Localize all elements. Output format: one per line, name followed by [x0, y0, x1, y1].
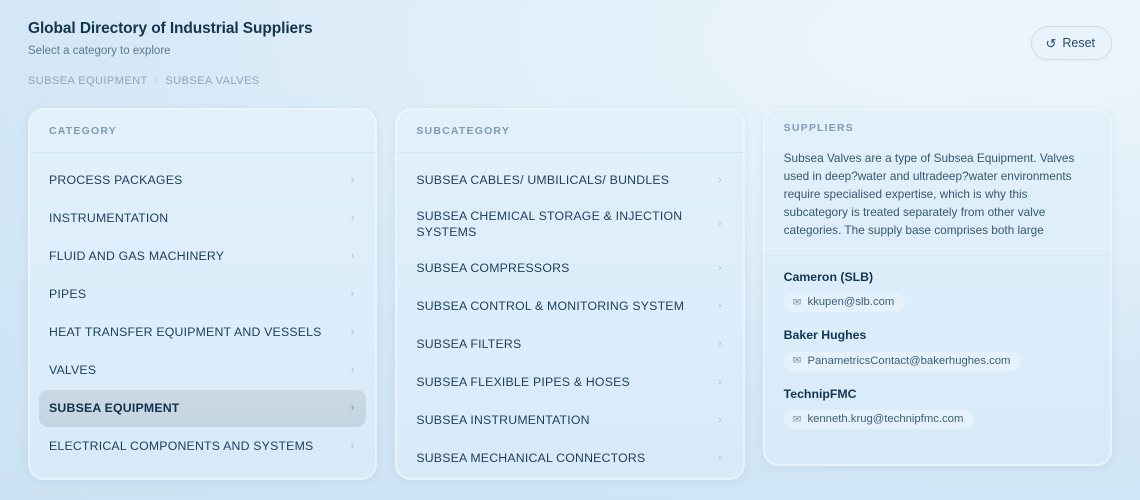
category-item-label: FLUID AND GAS MACHINERY: [49, 248, 341, 264]
mail-icon: ✉: [793, 298, 802, 309]
subcategory-panel: SUBCATEGORY SUBSEA CABLES/ UMBILICALS/ B…: [395, 108, 744, 480]
reset-button-label: Reset: [1062, 36, 1095, 50]
subcategory-panel-header: SUBCATEGORY: [396, 109, 743, 153]
subcategory-item-row[interactable]: SUBSEA FLEXIBLE PIPES & HOSES›: [406, 363, 733, 401]
chevron-right-icon: ›: [718, 415, 722, 426]
supplier-entry: Baker Hughes✉PanametricsContact@bakerhug…: [784, 328, 1091, 370]
subcategory-item-row[interactable]: SUBSEA CABLES/ UMBILICALS/ BUNDLES›: [406, 161, 733, 199]
chevron-right-icon: ›: [718, 175, 722, 186]
breadcrumb-item-subcategory[interactable]: SUBSEA VALVES: [165, 75, 259, 87]
supplier-email-text: kenneth.krug@technipfmc.com: [807, 413, 963, 425]
chevron-right-icon: ›: [351, 213, 355, 224]
supplier-entry: TechnipFMC✉kenneth.krug@technipfmc.com: [784, 387, 1091, 429]
category-item-row[interactable]: PIPES›: [39, 275, 366, 313]
chevron-right-icon: ›: [718, 453, 722, 464]
supplier-name: TechnipFMC: [784, 387, 1091, 401]
chevron-right-icon: ›: [351, 251, 355, 262]
category-panel-header: CATEGORY: [29, 109, 376, 153]
subcategory-item-label: SUBSEA CHEMICAL STORAGE & INJECTION SYST…: [416, 208, 708, 240]
supplier-name: Baker Hughes: [784, 328, 1091, 342]
chevron-right-icon: ›: [718, 263, 722, 274]
category-item-row[interactable]: FLUID AND GAS MACHINERY›: [39, 237, 366, 275]
subcategory-item-label: SUBSEA INSTRUMENTATION: [416, 412, 708, 428]
subcategory-description: Subsea Valves are a type of Subsea Equip…: [764, 147, 1111, 256]
category-item-row[interactable]: PROCESS PACKAGES›: [39, 161, 366, 199]
suppliers-panel-header: SUPPLIERS: [764, 109, 1111, 147]
category-item-label: ELECTRICAL COMPONENTS AND SYSTEMS: [49, 438, 341, 454]
category-list[interactable]: PROCESS PACKAGES›INSTRUMENTATION›FLUID A…: [29, 153, 376, 479]
subcategory-description-text: Subsea Valves are a type of Subsea Equip…: [784, 149, 1091, 241]
category-item-row[interactable]: VALVES›: [39, 351, 366, 389]
subcategory-item-row[interactable]: SUBSEA CHEMICAL STORAGE & INJECTION SYST…: [406, 199, 733, 249]
subcategory-item-row[interactable]: SUBSEA CONTROL & MONITORING SYSTEM›: [406, 287, 733, 325]
subcategory-item-label: SUBSEA MECHANICAL CONNECTORS: [416, 450, 708, 466]
breadcrumb: SUBSEA EQUIPMENT › SUBSEA VALVES: [28, 75, 1112, 87]
supplier-email-text: PanametricsContact@bakerhughes.com: [807, 355, 1010, 367]
category-item-label: PROCESS PACKAGES: [49, 172, 341, 188]
category-item-label: HEAT TRANSFER EQUIPMENT AND VESSELS: [49, 324, 341, 340]
mail-icon: ✉: [793, 414, 802, 425]
browser-columns: CATEGORY PROCESS PACKAGES›INSTRUMENTATIO…: [28, 108, 1112, 500]
category-item-row[interactable]: INSTRUMENTATION›: [39, 199, 366, 237]
category-item-row[interactable]: HEAT TRANSFER EQUIPMENT AND VESSELS›: [39, 313, 366, 351]
breadcrumb-item-category[interactable]: SUBSEA EQUIPMENT: [28, 75, 148, 87]
subcategory-list[interactable]: SUBSEA CABLES/ UMBILICALS/ BUNDLES›SUBSE…: [396, 153, 743, 479]
supplier-name: Cameron (SLB): [784, 270, 1091, 284]
chevron-right-icon: ›: [351, 175, 355, 186]
subcategory-item-row[interactable]: SUBSEA FILTERS›: [406, 325, 733, 363]
chevron-right-icon: ›: [351, 403, 355, 414]
page-title: Global Directory of Industrial Suppliers: [28, 20, 1112, 39]
chevron-right-icon: ›: [718, 219, 722, 230]
mail-icon: ✉: [793, 356, 802, 367]
category-item-label: SUBSEA EQUIPMENT: [49, 400, 341, 416]
reset-button[interactable]: ↺ Reset: [1031, 26, 1112, 60]
supplier-email-chip[interactable]: ✉PanametricsContact@bakerhughes.com: [784, 352, 1022, 371]
category-item-label: PIPES: [49, 286, 341, 302]
subcategory-item-label: SUBSEA CONTROL & MONITORING SYSTEM: [416, 298, 708, 314]
refresh-icon: ↺: [1045, 37, 1056, 50]
supplier-email-chip[interactable]: ✉kkupen@slb.com: [784, 293, 906, 312]
subcategory-item-row[interactable]: SUBSEA INSTRUMENTATION›: [406, 401, 733, 439]
supplier-email-text: kkupen@slb.com: [807, 296, 894, 308]
category-item-row[interactable]: SUBSEA EQUIPMENT›: [39, 389, 366, 427]
subcategory-item-label: SUBSEA FLEXIBLE PIPES & HOSES: [416, 374, 708, 390]
chevron-right-icon: ›: [351, 365, 355, 376]
category-panel: CATEGORY PROCESS PACKAGES›INSTRUMENTATIO…: [28, 108, 377, 480]
breadcrumb-separator-icon: ›: [155, 75, 159, 85]
category-item-label: VALVES: [49, 362, 341, 378]
subcategory-item-row[interactable]: SUBSEA MECHANICAL CONNECTORS›: [406, 439, 733, 477]
category-item-row[interactable]: ELECTRICAL COMPONENTS AND SYSTEMS›: [39, 427, 366, 465]
supplier-email-chip[interactable]: ✉kenneth.krug@technipfmc.com: [784, 410, 975, 429]
chevron-right-icon: ›: [351, 327, 355, 338]
chevron-right-icon: ›: [718, 339, 722, 350]
page-header: Global Directory of Industrial Suppliers…: [28, 20, 1112, 98]
suppliers-panel: SUPPLIERS Subsea Valves are a type of Su…: [763, 108, 1112, 466]
subcategory-item-row[interactable]: SUBSEA COMPRESSORS›: [406, 249, 733, 287]
chevron-right-icon: ›: [351, 441, 355, 452]
chevron-right-icon: ›: [351, 289, 355, 300]
subcategory-item-label: SUBSEA CABLES/ UMBILICALS/ BUNDLES: [416, 172, 708, 188]
subcategory-item-label: SUBSEA COMPRESSORS: [416, 260, 708, 276]
supplier-list: Cameron (SLB)✉kkupen@slb.comBaker Hughes…: [764, 256, 1111, 439]
page-subtitle: Select a category to explore: [28, 45, 1112, 57]
subcategory-item-label: SUBSEA FILTERS: [416, 336, 708, 352]
chevron-right-icon: ›: [718, 301, 722, 312]
category-item-label: INSTRUMENTATION: [49, 210, 341, 226]
chevron-right-icon: ›: [718, 377, 722, 388]
supplier-entry: Cameron (SLB)✉kkupen@slb.com: [784, 270, 1091, 312]
